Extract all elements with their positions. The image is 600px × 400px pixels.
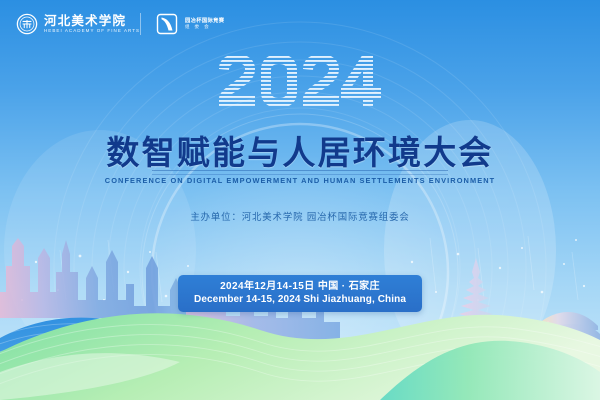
date-line-chinese: 2024年12月14-15日 中国 · 石家庄: [194, 280, 406, 293]
conference-banner: 河北美术学院 HEBEI ACADEMY OF FINE ARTS 园冶杯国际竞…: [0, 0, 600, 400]
hero-content: 数智赋能与人居环境大会 CONFERENCE ON DIGITAL EMPOWE…: [0, 0, 600, 400]
organizer-line: 主办单位：河北美术学院 园冶杯国际竞赛组委会: [0, 209, 600, 223]
page-title: 数智赋能与人居环境大会: [0, 126, 600, 174]
date-location-badge: 2024年12月14-15日 中国 · 石家庄 December 14-15, …: [178, 275, 422, 312]
title-rule-divider: [152, 170, 448, 175]
year-2024-wrap: [0, 52, 600, 120]
page-subtitle-english: CONFERENCE ON DIGITAL EMPOWERMENT AND HU…: [0, 176, 600, 185]
year-2024-graphic: [215, 52, 385, 118]
date-line-english: December 14-15, 2024 Shi Jiazhuang, Chin…: [194, 293, 406, 306]
